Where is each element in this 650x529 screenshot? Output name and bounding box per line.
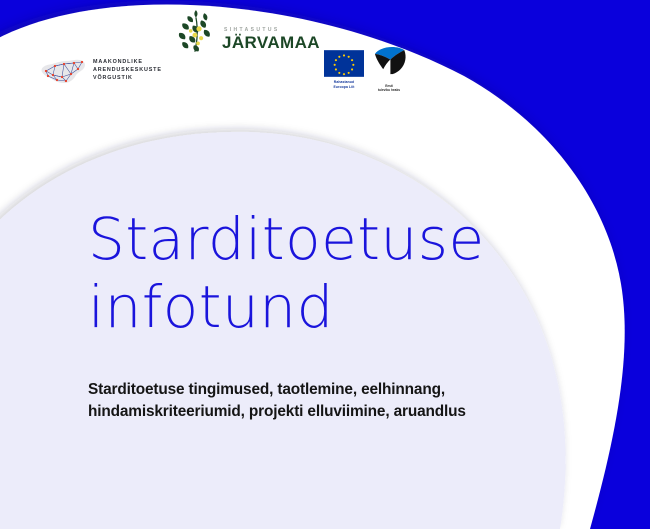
logo-estonia-caption-line2: tuleviku heaks xyxy=(378,88,400,92)
logo-jarvamaa: SIHTASUTUS JÄRVAMAA xyxy=(172,8,320,58)
logo-mak-wordmark: MAAKONDLIKE ARENDUSKESKUSTE VÕRGUSTIK xyxy=(93,58,162,83)
eu-flag-icon xyxy=(324,50,364,77)
logo-eu-caption-line2: Euroopa Liit xyxy=(334,85,355,90)
logo-bar: MAAKONDLIKE ARENDUSKESKUSTE VÕRGUSTIK xyxy=(0,0,650,105)
logo-estonia: Eesti tuleviku heaks xyxy=(368,45,410,93)
logo-jarvamaa-wordmark: SIHTASUTUS JÄRVAMAA xyxy=(222,9,320,57)
logo-mak: MAAKONDLIKE ARENDUSKESKUSTE VÕRGUSTIK xyxy=(38,50,162,90)
jarvamaa-plant-icon xyxy=(172,8,224,58)
estonia-state-flag-icon xyxy=(368,45,410,82)
slide-content: Starditoetuse infotund Starditoetuse tin… xyxy=(88,205,558,423)
logo-eu-caption-line1: Rahastanud xyxy=(334,80,355,85)
logo-mak-line3: VÕRGUSTIK xyxy=(93,74,162,82)
logo-eu: Rahastanud Euroopa Liit xyxy=(324,50,364,89)
logo-jarvamaa-name: JÄRVAMAA xyxy=(222,34,320,51)
logo-eu-caption: Rahastanud Euroopa Liit xyxy=(334,80,355,89)
logo-mak-line1: MAAKONDLIKE xyxy=(93,58,162,66)
logo-mak-line2: ARENDUSKESKUSTE xyxy=(93,66,162,74)
slide-subtitle: Starditoetuse tingimused, taotlemine, ee… xyxy=(88,379,558,423)
estonia-network-map-icon xyxy=(38,50,88,90)
presentation-slide: MAAKONDLIKE ARENDUSKESKUSTE VÕRGUSTIK xyxy=(0,0,650,529)
slide-title: Starditoetuse infotund xyxy=(88,205,558,341)
logo-estonia-caption: Eesti tuleviku heaks xyxy=(378,84,400,93)
